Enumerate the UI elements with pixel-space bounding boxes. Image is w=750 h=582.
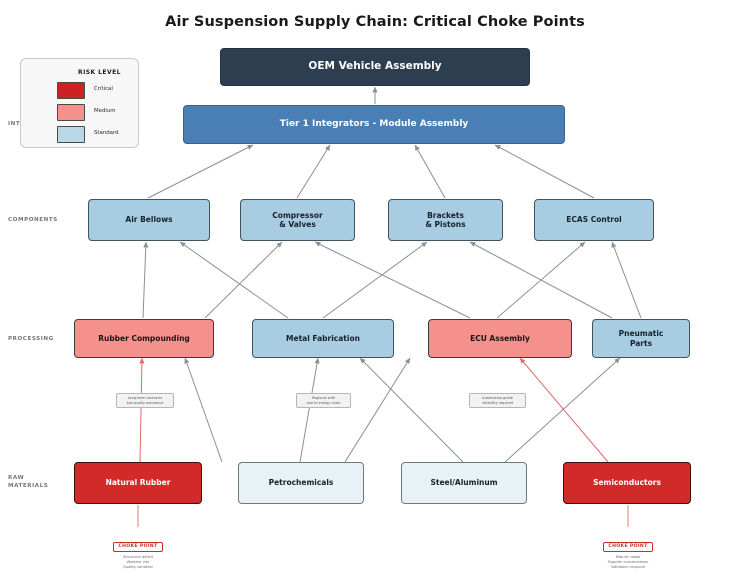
edge-label-line2: due to energy costs [307, 401, 341, 405]
node-label: Steel/Aluminum [430, 478, 497, 487]
legend-swatch-standard [57, 126, 85, 143]
node-label: Air Bellows [125, 215, 172, 224]
legend-panel: RISK LEVEL Critical Medium Standard [20, 58, 139, 148]
edge-label-automotive-grade: Automotive-grade reliability required [469, 393, 526, 408]
node-ecas-control[interactable]: ECAS Control [534, 199, 654, 241]
node-label: Rubber Compounding [98, 334, 190, 343]
choke-point-badge: CHOKE POINT [113, 542, 162, 552]
choke-point-detail: Mature nodes Supplier concentration Vali… [568, 555, 688, 571]
row-label-components: COMPONENTS [8, 216, 58, 224]
node-label-line2: & Pistons [425, 220, 465, 229]
node-label: Tier 1 Integrators - Module Assembly [280, 119, 469, 130]
node-label-line1: Compressor [272, 211, 322, 220]
node-label: ECAS Control [566, 215, 621, 224]
row-label-processing: PROCESSING [8, 335, 54, 343]
edge-label-line1: Automotive-grade [482, 396, 513, 400]
choke-detail-line1: Structural deficit [123, 555, 153, 559]
row-label-raw-materials: RAW MATERIALS [8, 474, 48, 491]
node-metal-fabrication[interactable]: Metal Fabrication [252, 319, 394, 358]
node-label: Natural Rubber [106, 478, 171, 487]
node-label: Metal Fabrication [286, 334, 360, 343]
node-semiconductors[interactable]: Semiconductors [563, 462, 691, 504]
choke-detail-line2: Weather risk [127, 560, 150, 564]
node-tier1-integrators[interactable]: Tier 1 Integrators - Module Assembly [183, 105, 565, 144]
edge-label-long-term-contracts: Long-term contracts but quality assuranc… [116, 393, 174, 408]
node-rubber-compounding[interactable]: Rubber Compounding [74, 319, 214, 358]
legend-title: RISK LEVEL [78, 69, 121, 76]
legend-label-medium: Medium [94, 108, 116, 114]
edge-label-line2: reliability required [482, 401, 513, 405]
node-label: Petrochemicals [269, 478, 334, 487]
node-natural-rubber[interactable]: Natural Rubber [74, 462, 202, 504]
node-oem-vehicle-assembly[interactable]: OEM Vehicle Assembly [220, 48, 530, 86]
row-label-raw-line2: MATERIALS [8, 483, 48, 489]
node-label: OEM Vehicle Assembly [308, 60, 441, 73]
legend-swatch-critical [57, 82, 85, 99]
row-label-raw-line1: RAW [8, 475, 24, 481]
choke-point-badge: CHOKE POINT [603, 542, 652, 552]
page-title: Air Suspension Supply Chain: Critical Ch… [0, 14, 750, 30]
node-brackets-pistons[interactable]: Brackets & Pistons [388, 199, 503, 241]
node-label-line1: Brackets [425, 211, 465, 220]
legend-label-standard: Standard [94, 130, 119, 136]
edge-label-line1: Regional shift [312, 396, 335, 400]
edge-label-regional-shift: Regional shift due to energy costs [296, 393, 351, 408]
node-label: ECU Assembly [470, 334, 530, 343]
node-compressor-valves[interactable]: Compressor & Valves [240, 199, 355, 241]
choke-detail-line3: Validation required [611, 565, 645, 569]
edge-label-line2: but quality assurance [127, 401, 164, 405]
node-label: Semiconductors [593, 478, 661, 487]
node-ecu-assembly[interactable]: ECU Assembly [428, 319, 572, 358]
node-steel-aluminum[interactable]: Steel/Aluminum [401, 462, 527, 504]
node-air-bellows[interactable]: Air Bellows [88, 199, 210, 241]
edge-label-line1: Long-term contracts [128, 396, 162, 400]
node-label-line2: Parts [619, 339, 664, 348]
legend-label-critical: Critical [94, 86, 113, 92]
choke-detail-line2: Supplier concentration [608, 560, 649, 564]
node-petrochemicals[interactable]: Petrochemicals [238, 462, 364, 504]
choke-point-detail: Structural deficit Weather risk Quality … [78, 555, 198, 571]
choke-point-semiconductors: CHOKE POINT Mature nodes Supplier concen… [568, 532, 688, 571]
diagram-canvas: Air Suspension Supply Chain: Critical Ch… [0, 0, 750, 582]
node-pneumatic-parts[interactable]: Pneumatic Parts [592, 319, 690, 358]
node-label-line2: & Valves [272, 220, 322, 229]
legend-swatch-medium [57, 104, 85, 121]
choke-detail-line1: Mature nodes [616, 555, 641, 559]
choke-point-natural-rubber: CHOKE POINT Structural deficit Weather r… [78, 532, 198, 571]
choke-detail-line3: Quality variation [123, 565, 153, 569]
node-label-line1: Pneumatic [619, 329, 664, 338]
